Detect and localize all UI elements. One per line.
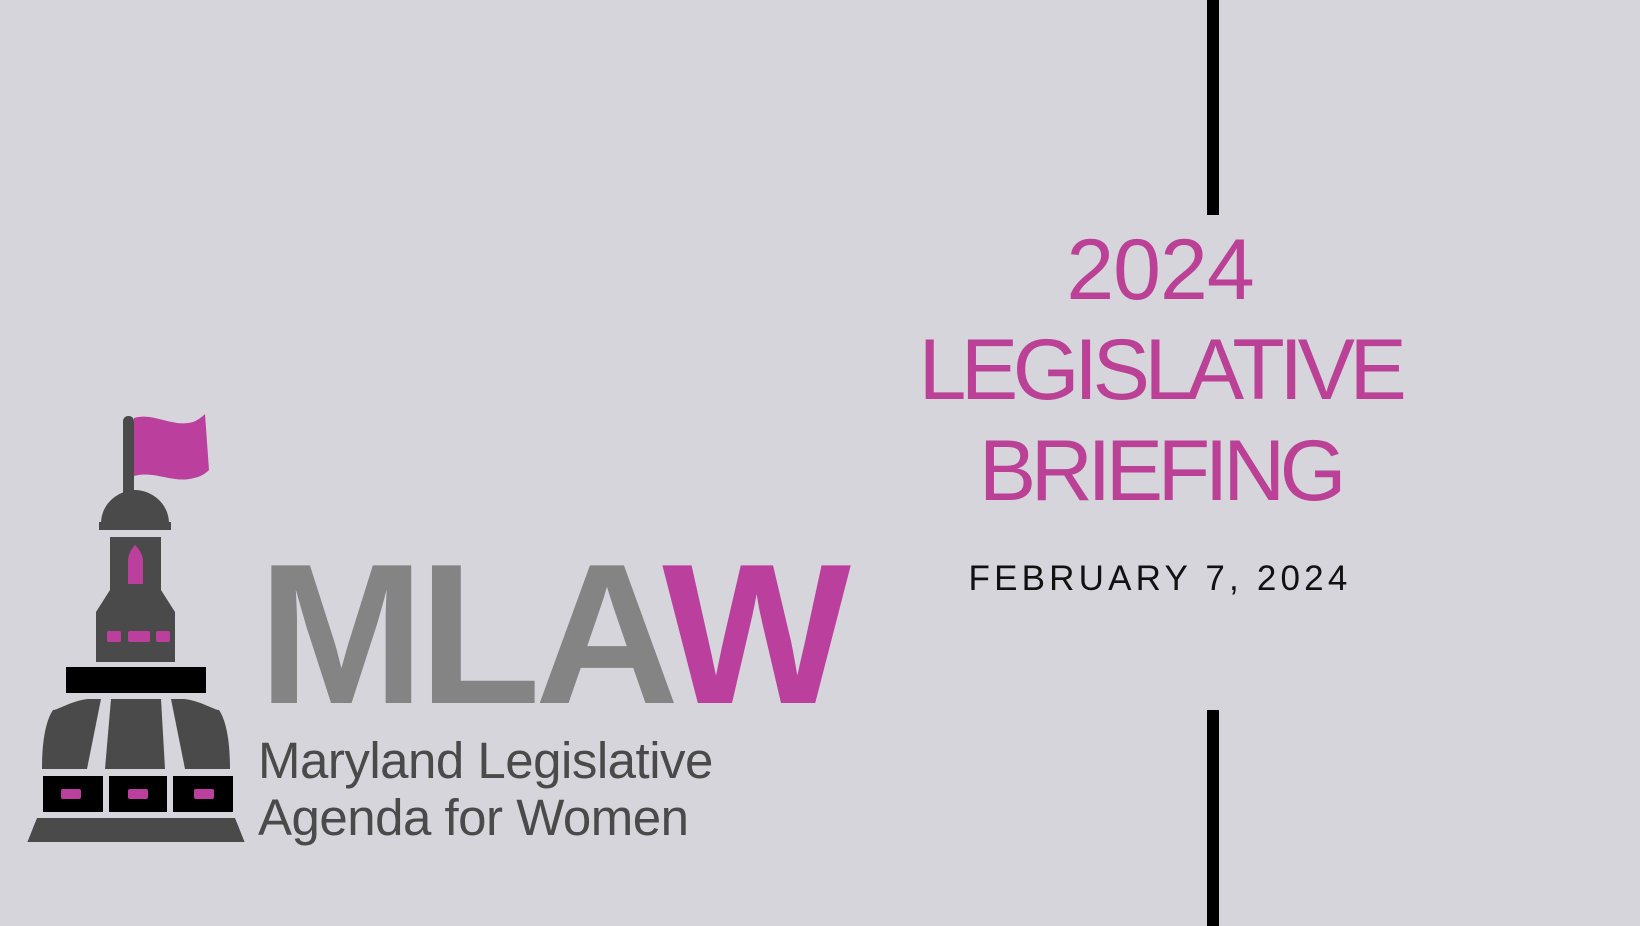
slide-canvas: MLAW Maryland Legislative Agenda for Wom…	[0, 0, 1640, 924]
mlaw-wordmark-letters: MLAW	[258, 556, 788, 714]
headline-line-1: LEGISLATIVE	[880, 328, 1440, 412]
mlaw-wordmark: MLAW Maryland Legislative Agenda for Wom…	[258, 556, 788, 846]
maryland-state-house-dome-icon	[25, 404, 247, 842]
event-date: FEBRUARY 7, 2024	[880, 559, 1440, 599]
vertical-rule-top	[1207, 0, 1219, 215]
vertical-rule-bottom	[1207, 710, 1219, 926]
headline-line-2: BRIEFING	[880, 429, 1440, 513]
mlaw-subtitle-line-2: Agenda for Women	[258, 789, 788, 846]
headline-year: 2024	[880, 228, 1440, 312]
mlaw-logo: MLAW Maryland Legislative Agenda for Wom…	[0, 0, 820, 924]
mlaw-subtitle: Maryland Legislative Agenda for Women	[258, 732, 788, 846]
mlaw-subtitle-line-1: Maryland Legislative	[258, 732, 788, 789]
wordmark-mla: MLA	[258, 523, 662, 746]
wordmark-w: W	[662, 523, 845, 746]
headline-block: 2024 LEGISLATIVE BRIEFING FEBRUARY 7, 20…	[880, 228, 1440, 599]
